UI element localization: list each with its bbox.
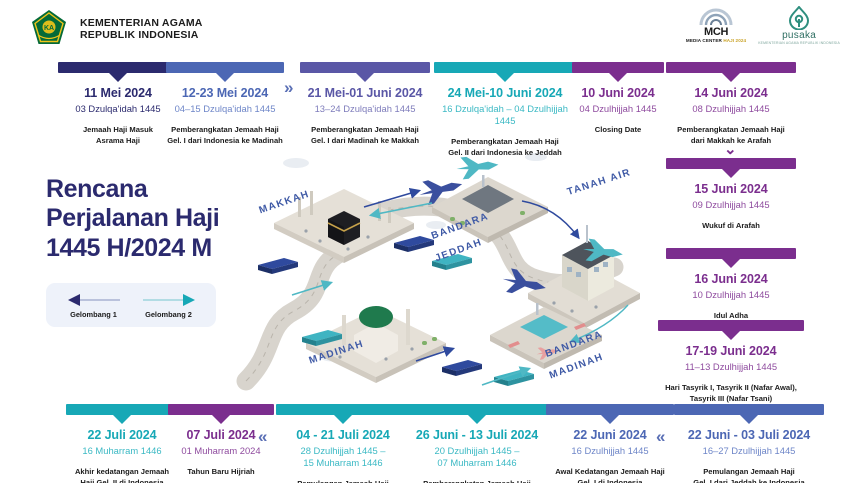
- hajj-journey-illustration: MAKKAH BANDARA JEDDAH TANAH AIR MADINAH …: [236, 145, 656, 405]
- card-date: 10 Juni 2024: [572, 86, 664, 100]
- mch-title: MCH: [686, 27, 746, 38]
- card-description: Pemulangan Jemaah HajiGel. II dari Madin…: [276, 478, 410, 483]
- card-bar: [58, 62, 178, 73]
- timeline-card-top-1[interactable]: 11 Mei 2024 03 Dzulqa'idah 1445 Jemaah H…: [58, 62, 178, 146]
- pusaka-drop-icon: [787, 6, 811, 30]
- card-bar: [406, 404, 548, 415]
- card-date: 16 Juni 2024: [666, 272, 796, 286]
- ministry-line-1: KEMENTERIAN AGAMA: [80, 17, 203, 29]
- svg-text:KA: KA: [44, 25, 54, 32]
- separator-chevron-left-bottom-2: «: [656, 428, 665, 445]
- card-bar: [666, 248, 796, 259]
- card-description: Jemaah Haji MasukAsrama Haji: [58, 124, 178, 146]
- card-hijri-date: 04 Dzulhijjah 1445: [572, 103, 664, 115]
- pusaka-title: pusaka: [758, 31, 840, 41]
- card-bar: [572, 62, 664, 73]
- timeline-card-top-2[interactable]: 12-23 Mei 2024 04–15 Dzulqa'idah 1445 Pe…: [166, 62, 284, 146]
- card-date: 12-23 Mei 2024: [166, 86, 284, 100]
- card-date: 14 Juni 2024: [666, 86, 796, 100]
- timeline-card-bottom-4[interactable]: 26 Juni - 13 Juli 2024 20 Dzulhijjah 144…: [406, 404, 548, 483]
- timeline-card-top-3[interactable]: 21 Mei-01 Juni 2024 13–24 Dzulqa'idah 14…: [300, 62, 430, 146]
- timeline-card-top-5[interactable]: 10 Juni 2024 04 Dzulhijjah 1445 Closing …: [572, 62, 664, 135]
- card-date: 22 Juli 2024: [66, 428, 178, 442]
- card-description: Awal Kedatangan Jemaah HajiGel. I di Ind…: [546, 466, 674, 483]
- card-bar: [276, 404, 410, 415]
- legend: Gelombang 1 Gelombang 2: [46, 283, 216, 327]
- card-description: Pemulangan Jemaah HajiGel. I dari Jeddah…: [674, 466, 824, 483]
- title-line-2: Perjalanan Haji: [46, 204, 219, 232]
- card-bar: [168, 404, 274, 415]
- mch-year: HAJI 2024: [723, 38, 746, 43]
- legend-item-wave1: Gelombang 1: [66, 293, 122, 319]
- mch-arc-icon: [699, 8, 733, 26]
- arrow-left-icon: [66, 293, 122, 307]
- card-bar: [658, 320, 804, 331]
- timeline-card-top-6[interactable]: 14 Juni 2024 08 Dzulhijjah 1445 Pemberan…: [666, 62, 796, 146]
- brand-block: KA KEMENTERIAN AGAMA REPUBLIK INDONESIA: [28, 8, 203, 50]
- timeline-card-bottom-5[interactable]: 22 Juni 2024 16 Dzulhijjah 1445 Awal Ked…: [546, 404, 674, 483]
- chevron-down-icon: ⌄: [724, 142, 737, 157]
- separator-chevron-left-bottom-1: «: [258, 428, 267, 445]
- card-hijri-date: 11–13 Dzulhijjah 1445: [658, 361, 804, 373]
- card-date: 04 - 21 Juli 2024: [276, 428, 410, 442]
- card-date: 22 Juni - 03 Juli 2024: [674, 428, 824, 442]
- card-bar: [166, 62, 284, 73]
- card-date: 15 Juni 2024: [666, 182, 796, 196]
- pusaka-subtitle: KEMENTERIAN AGAMA REPUBLIK INDONESIA: [758, 41, 840, 45]
- card-hijri-date: 09 Dzulhijjah 1445: [666, 199, 796, 211]
- card-description: Akhir kedatangan JemaahHaji Gel. II di I…: [66, 466, 178, 483]
- title-line-1: Rencana: [46, 175, 147, 203]
- card-description: Wukuf di Arafah: [666, 220, 796, 231]
- timeline-card-right-1[interactable]: 15 Juni 2024 09 Dzulhijjah 1445 Wukuf di…: [666, 158, 796, 231]
- infographic-page: KA KEMENTERIAN AGAMA REPUBLIK INDONESIA: [0, 0, 860, 483]
- card-description: Hari Tasyrik I, Tasyrik II (Nafar Awal),…: [658, 382, 804, 404]
- card-bar: [674, 404, 824, 415]
- timeline-card-right-2[interactable]: 16 Juni 2024 10 Dzulhijjah 1445 Idul Adh…: [666, 248, 796, 321]
- card-hijri-date: 16 Muharram 1446: [66, 445, 178, 457]
- mch-subtitle: MEDIA CENTER HAJI 2024: [686, 38, 746, 43]
- card-description: Closing Date: [572, 124, 664, 135]
- card-hijri-date: 16 Dzulqa'idah – 04 Dzulhijjah 1445: [434, 103, 576, 127]
- card-description: Pemberangkatan Jemaah HajiGel. I dari Ma…: [300, 124, 430, 146]
- mch-logo: MCH MEDIA CENTER HAJI 2024: [686, 8, 746, 43]
- card-date: 26 Juni - 13 Juli 2024: [406, 428, 548, 442]
- card-date: 11 Mei 2024: [58, 86, 178, 100]
- card-description: Pemberangkatan Jemaah HajiGel. II dari I…: [434, 136, 576, 158]
- card-bar: [434, 62, 576, 73]
- arrow-right-icon: [141, 293, 197, 307]
- timeline-card-bottom-3[interactable]: 04 - 21 Juli 2024 28 Dzulhijjah 1445 –15…: [276, 404, 410, 483]
- card-description: Pemberangkatan Jemaah HajiGel. I dari In…: [166, 124, 284, 146]
- card-bar: [66, 404, 178, 415]
- title-line-3: 1445 H/2024 M: [46, 234, 212, 262]
- legend-label-wave2: Gelombang 2: [141, 310, 197, 319]
- card-hijri-date: 28 Dzulhijjah 1445 –15 Muharram 1446: [276, 445, 410, 469]
- card-hijri-date: 08 Dzulhijjah 1445: [666, 103, 796, 115]
- pusaka-logo: pusaka KEMENTERIAN AGAMA REPUBLIK INDONE…: [758, 6, 840, 45]
- page-title: Rencana Perjalanan Haji 1445 H/2024 M: [46, 175, 261, 263]
- mch-subtitle-text: MEDIA CENTER: [686, 38, 722, 43]
- partner-logos: MCH MEDIA CENTER HAJI 2024 pusaka KEMENT…: [686, 6, 840, 45]
- header: KA KEMENTERIAN AGAMA REPUBLIK INDONESIA: [0, 0, 860, 55]
- timeline-card-bottom-6[interactable]: 22 Juni - 03 Juli 2024 16–27 Dzulhijjah …: [674, 404, 824, 483]
- timeline-card-top-4[interactable]: 24 Mei-10 Juni 2024 16 Dzulqa'idah – 04 …: [434, 62, 576, 158]
- card-hijri-date: 01 Muharram 2024: [168, 445, 274, 457]
- card-hijri-date: 16 Dzulhijjah 1445: [546, 445, 674, 457]
- timeline-card-bottom-1[interactable]: 22 Juli 2024 16 Muharram 1446 Akhir keda…: [66, 404, 178, 483]
- card-hijri-date: 04–15 Dzulqa'idah 1445: [166, 103, 284, 115]
- card-hijri-date: 13–24 Dzulqa'idah 1445: [300, 103, 430, 115]
- ministry-name: KEMENTERIAN AGAMA REPUBLIK INDONESIA: [80, 17, 203, 41]
- card-hijri-date: 16–27 Dzulhijjah 1445: [674, 445, 824, 457]
- card-bar: [300, 62, 430, 73]
- kemenag-emblem-icon: KA: [28, 8, 70, 50]
- card-bar: [666, 62, 796, 73]
- legend-label-wave1: Gelombang 1: [66, 310, 122, 319]
- card-date: 17-19 Juni 2024: [658, 344, 804, 358]
- card-description: Tahun Baru Hijriah: [168, 466, 274, 477]
- card-hijri-date: 20 Dzulhijjah 1445 –07 Muharram 1446: [406, 445, 548, 469]
- card-bar: [666, 158, 796, 169]
- madinah-platform: [306, 306, 446, 383]
- ministry-line-2: REPUBLIK INDONESIA: [80, 29, 203, 41]
- card-date: 22 Juni 2024: [546, 428, 674, 442]
- card-date: 24 Mei-10 Juni 2024: [434, 86, 576, 100]
- card-date: 21 Mei-01 Juni 2024: [300, 86, 430, 100]
- card-bar: [546, 404, 674, 415]
- legend-item-wave2: Gelombang 2: [141, 293, 197, 319]
- timeline-card-right-3[interactable]: 17-19 Juni 2024 11–13 Dzulhijjah 1445 Ha…: [658, 320, 804, 404]
- card-hijri-date: 03 Dzulqa'idah 1445: [58, 103, 178, 115]
- card-hijri-date: 10 Dzulhijjah 1445: [666, 289, 796, 301]
- separator-chevron-right-top-1: »: [284, 79, 293, 96]
- card-description: Pemberangkatan Jemaah HajiGel. II dari M…: [406, 478, 548, 483]
- title-block: Rencana Perjalanan Haji 1445 H/2024 M Ge…: [46, 175, 261, 327]
